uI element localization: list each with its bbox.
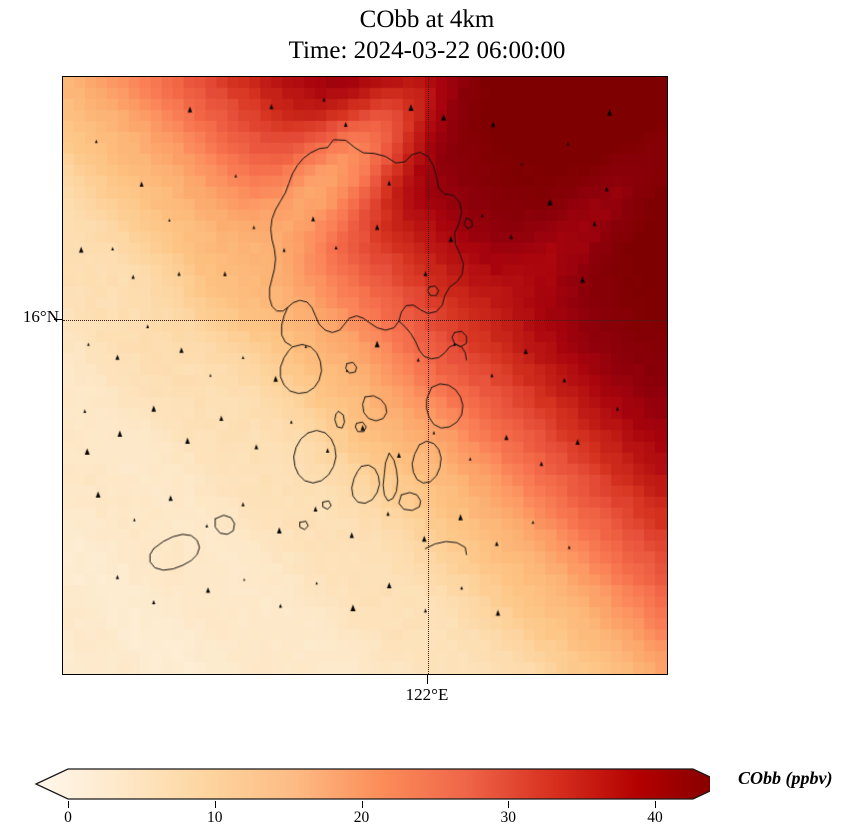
colorbar-ticklabel: 30 xyxy=(478,809,538,827)
title-line-time: Time: 2024-03-22 06:00:00 xyxy=(0,35,854,66)
colorbar-ticks: 010203040 xyxy=(0,801,854,831)
axis-label-longitude: 122°E xyxy=(367,685,487,705)
colorbar-tickmark xyxy=(508,801,509,808)
tick-longitude xyxy=(427,675,428,684)
colorbar-tickmark xyxy=(362,801,363,808)
colorbar-label: CObb (ppbv) xyxy=(738,768,832,789)
colorbar-tickmark xyxy=(215,801,216,808)
figure-canvas: CObb at 4km Time: 2024-03-22 06:00:00 16… xyxy=(0,0,854,836)
colorbar-ticklabel: 0 xyxy=(38,809,98,827)
heatmap-raster xyxy=(63,77,667,674)
title-line-variable: CObb at 4km xyxy=(0,4,854,35)
colorbar-ticklabel: 10 xyxy=(185,809,245,827)
colorbar-gradient xyxy=(30,765,710,803)
colorbar: 010203040 xyxy=(0,760,854,836)
colorbar-ticklabel: 40 xyxy=(625,809,685,827)
axis-label-latitude: 16°N xyxy=(0,307,59,327)
figure-title: CObb at 4km Time: 2024-03-22 06:00:00 xyxy=(0,4,854,66)
colorbar-tickmark xyxy=(655,801,656,808)
colorbar-tickmark xyxy=(68,801,69,808)
colorbar-ticklabel: 20 xyxy=(332,809,392,827)
map-axes[interactable] xyxy=(62,76,668,675)
